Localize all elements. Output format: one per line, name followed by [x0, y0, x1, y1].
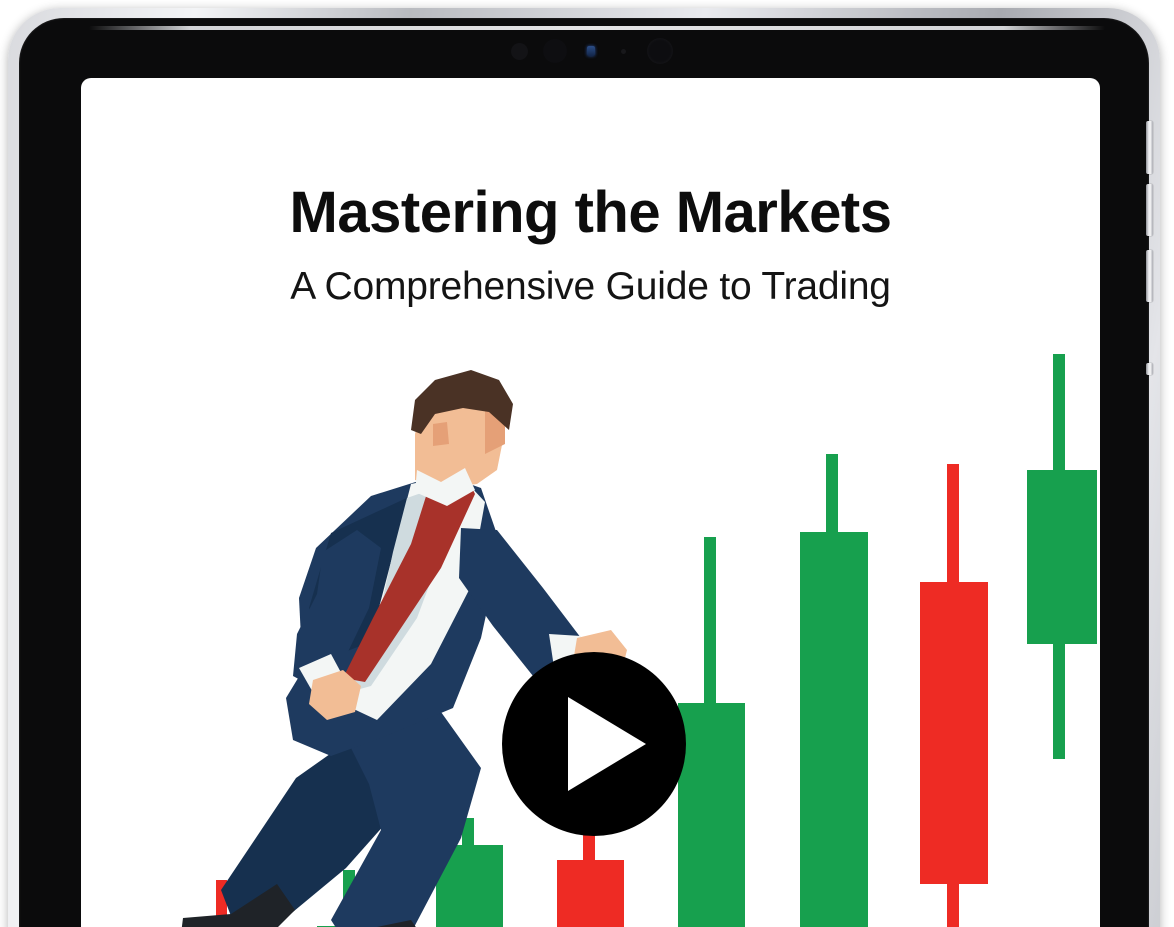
- accessory-connector: [1146, 363, 1153, 375]
- proximity-sensor-icon: [511, 43, 528, 60]
- volume-up-button[interactable]: [1146, 121, 1153, 174]
- ambient-light-sensor-icon: [543, 39, 567, 63]
- front-camera-icon: [647, 38, 673, 64]
- tablet-device-frame: Mastering the Markets A Comprehensive Gu…: [8, 8, 1160, 927]
- play-icon: [568, 697, 646, 791]
- man-ear: [433, 422, 449, 446]
- microphone-icon: [621, 49, 626, 54]
- indicator-led-icon: [587, 46, 595, 56]
- play-button[interactable]: [502, 652, 686, 836]
- tablet-bezel: Mastering the Markets A Comprehensive Gu…: [19, 18, 1149, 927]
- page-subtitle: A Comprehensive Guide to Trading: [81, 265, 1100, 309]
- volume-down-button[interactable]: [1146, 184, 1153, 236]
- tablet-screen: Mastering the Markets A Comprehensive Gu…: [81, 78, 1100, 927]
- page-title: Mastering the Markets: [81, 179, 1100, 246]
- device-top-rail: [89, 26, 1105, 30]
- screenshot-stage: Mastering the Markets A Comprehensive Gu…: [0, 0, 1174, 927]
- power-button[interactable]: [1146, 250, 1153, 302]
